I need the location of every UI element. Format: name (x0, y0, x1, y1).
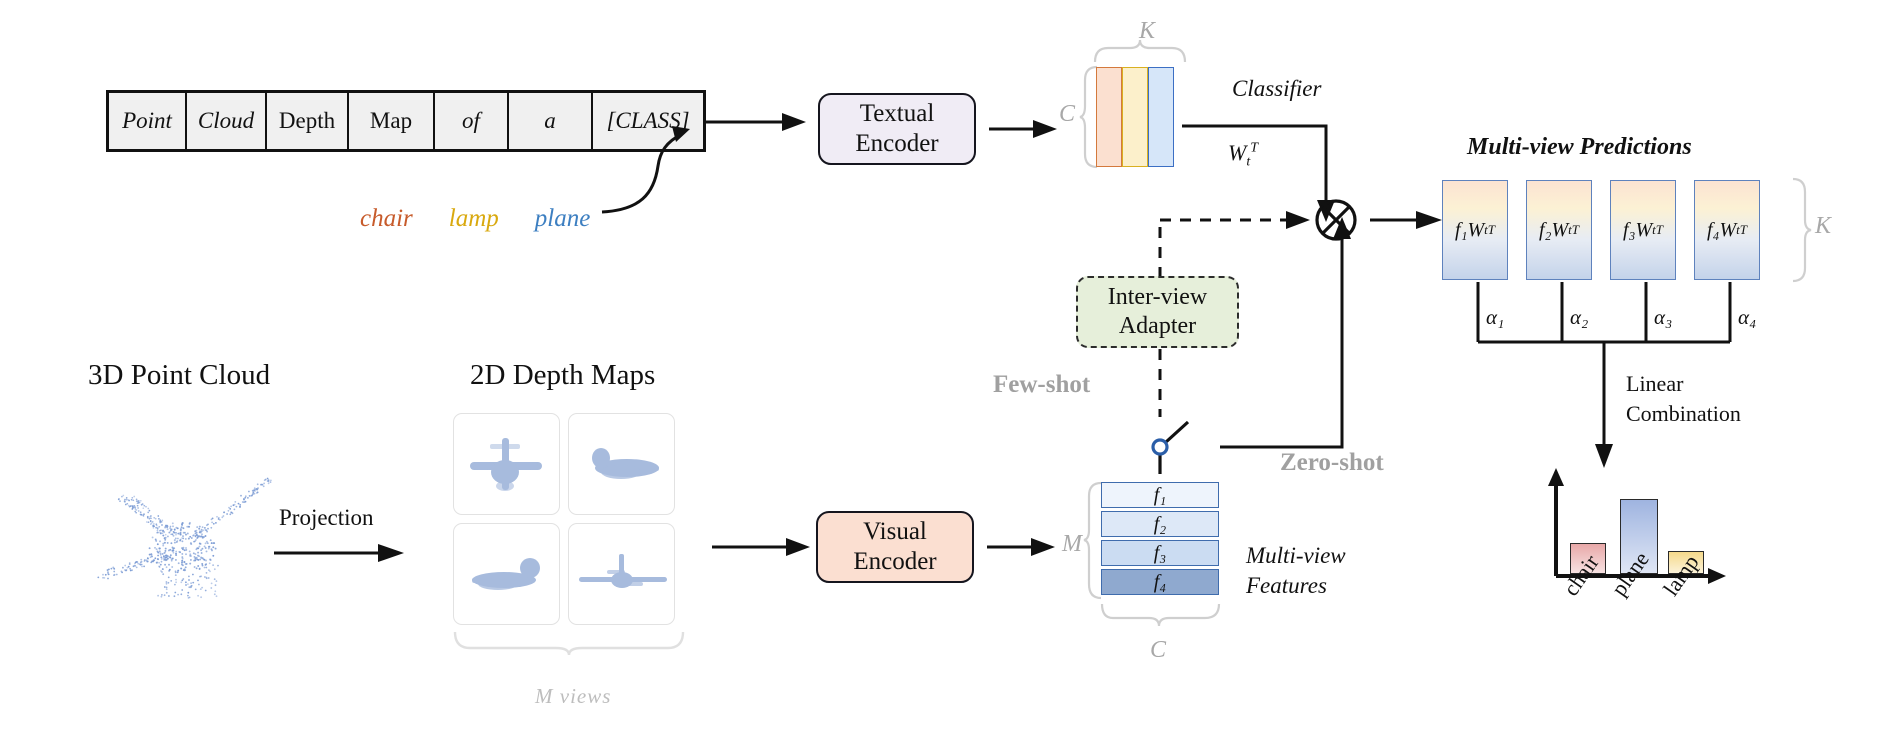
arrow-linear-combination (1588, 340, 1622, 470)
multi-view-features-label: Multi-view Features (1246, 541, 1346, 601)
m-views-caption: M views (535, 684, 611, 709)
depth-maps-title: 2D Depth Maps (470, 359, 655, 392)
result-bar-chart: chair plane lamp (1528, 468, 1758, 638)
feature-bar-f2: f₂ (1101, 511, 1219, 537)
depth-top-view-icon (569, 524, 675, 625)
arrow-depth-to-visual-encoder (710, 527, 814, 569)
textual-encoder-line1: Textual (860, 99, 935, 129)
adapter-line2: Adapter (1119, 312, 1196, 341)
predictions-right-brace (1790, 176, 1814, 286)
zero-shot-label: Zero-shot (1280, 449, 1384, 477)
class-word-chair[interactable]: chair (360, 205, 413, 233)
prompt-cell-of[interactable]: of (435, 93, 509, 149)
visual-encoder-line2: Encoder (853, 547, 936, 577)
textual-encoder-line2: Encoder (855, 129, 938, 159)
prompt-cell-a[interactable]: a (509, 93, 593, 149)
alpha-label-1: α₁ (1486, 305, 1504, 330)
feature-bar-f3: f₃ (1101, 540, 1219, 566)
prompt-cell-depth[interactable]: Depth (267, 93, 349, 149)
depth-side-view-2-icon (454, 524, 560, 625)
prediction-box-1: f₁WtT (1442, 180, 1508, 280)
textual-encoder-box[interactable]: Textual Encoder (818, 93, 976, 165)
multi-view-features-stack: f₁ f₂ f₃ f₄ (1101, 482, 1219, 595)
predictions-dim-K-label: K (1815, 213, 1831, 240)
features-dim-C-label: C (1150, 637, 1166, 664)
prompt-cell-map[interactable]: Map (349, 93, 435, 149)
depth-grid-brace (452, 630, 686, 656)
class-word-plane[interactable]: plane (535, 205, 591, 233)
figure-canvas: PointCloudDepthMapofa[CLASS] chairlamppl… (0, 0, 1882, 746)
classifier-matrix (1096, 67, 1174, 167)
class-word-list: chairlampplane (360, 205, 590, 233)
arrow-multiply-to-predictions (1368, 198, 1446, 242)
prompt-cell-cloud[interactable]: Cloud (187, 93, 267, 149)
feature-bar-f4: f₄ (1101, 569, 1219, 595)
depth-map-grid (453, 413, 675, 625)
classifier-column-plane (1148, 67, 1174, 167)
multi-view-predictions-title: Multi-view Predictions (1467, 134, 1692, 161)
depth-tile-side-view-2[interactable] (453, 523, 560, 625)
arrow-visual-encoder-to-features (985, 527, 1059, 569)
class-word-lamp[interactable]: lamp (449, 205, 499, 233)
mv-features-line2: Features (1246, 571, 1346, 601)
prediction-box-3: f₃WtT (1610, 180, 1676, 280)
depth-tile-top-view[interactable] (568, 523, 675, 625)
classifier-column-lamp (1122, 67, 1148, 167)
few-shot-label: Few-shot (993, 371, 1090, 399)
lincomb-line2: Combination (1626, 399, 1741, 429)
features-bottom-brace (1099, 602, 1223, 628)
depth-tile-front-view[interactable] (453, 413, 560, 515)
visual-encoder-box[interactable]: Visual Encoder (816, 511, 974, 583)
alpha-label-2: α₂ (1570, 305, 1588, 330)
prediction-box-2: f₂WtT (1526, 180, 1592, 280)
arrow-prompt-to-textual-encoder (700, 100, 810, 146)
mv-features-line1: Multi-view (1246, 541, 1346, 571)
classifier-dim-C-label: C (1059, 101, 1075, 128)
classifier-column-chair (1096, 67, 1122, 167)
linear-combination-label: Linear Combination (1626, 369, 1741, 428)
alpha-label-3: α₃ (1654, 305, 1672, 330)
prediction-box-4: f₄WtT (1694, 180, 1760, 280)
classifier-label: Classifier (1232, 76, 1321, 102)
depth-side-view-icon (569, 414, 675, 515)
depth-tile-side-view[interactable] (568, 413, 675, 515)
alpha-label-4: α₄ (1738, 305, 1756, 330)
lincomb-line1: Linear (1626, 369, 1741, 399)
prompt-cell-point[interactable]: Point (109, 93, 187, 149)
arrow-projection (272, 535, 408, 575)
feature-bar-f1: f₁ (1101, 482, 1219, 508)
multi-view-predictions-row: f₁WtT f₂WtT f₃WtT f₄WtT (1442, 180, 1760, 280)
dashed-line-adapter-up (1150, 210, 1170, 280)
curved-arrow-class-to-slot (596, 120, 706, 220)
visual-encoder-line1: Visual (863, 517, 927, 547)
zero-shot-path-arrow (1190, 215, 1370, 455)
depth-front-view-icon (454, 414, 560, 515)
point-cloud-visual (70, 440, 290, 620)
arrow-textual-encoder-to-classifier (987, 107, 1061, 153)
point-cloud-title: 3D Point Cloud (88, 359, 270, 392)
features-dim-M-label: M (1062, 531, 1082, 558)
projection-label: Projection (279, 505, 374, 531)
classifier-top-brace (1092, 38, 1188, 64)
